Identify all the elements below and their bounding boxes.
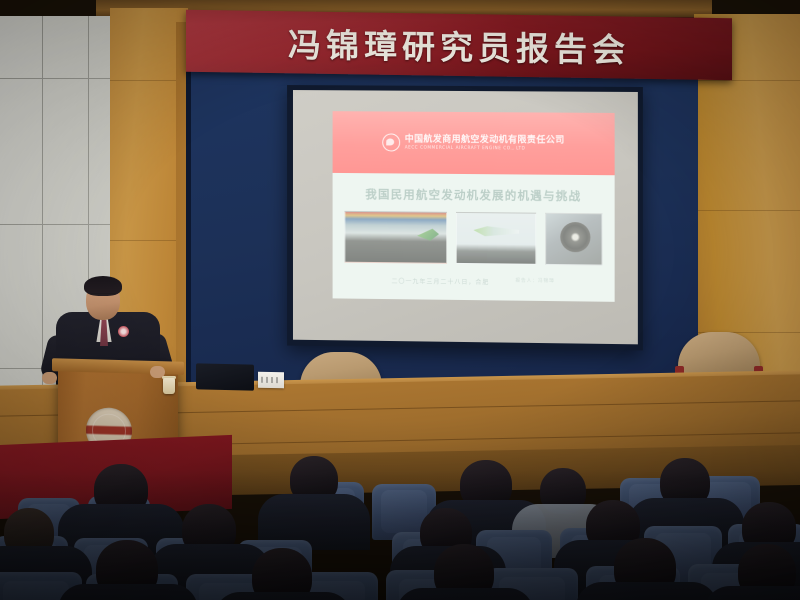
speaker-flower-badge bbox=[118, 326, 129, 337]
presentation-monitor bbox=[196, 363, 254, 390]
audience-shoulders bbox=[396, 588, 534, 600]
glasses-icon bbox=[90, 293, 116, 300]
slide-photo-row bbox=[333, 211, 615, 266]
slide-footer: 二〇一九年三月二十八日，合肥 报告人：冯锦璋 bbox=[333, 263, 615, 288]
auditorium-photo: 冯锦璋研究员报告会 中国航发商用航空发动机有限责任公司 AECC COMMERC… bbox=[0, 0, 800, 600]
aecc-circle-logo-icon bbox=[382, 133, 400, 151]
slide-footer-note: 报告人：冯锦璋 bbox=[515, 278, 554, 287]
audience-shoulders bbox=[58, 584, 198, 600]
speaker-left-hand bbox=[42, 372, 57, 384]
backdrop-edge bbox=[186, 62, 191, 392]
event-banner: 冯锦璋研究员报告会 bbox=[186, 10, 732, 81]
audience-area bbox=[0, 452, 800, 600]
audience-shoulders bbox=[214, 592, 352, 600]
company-name-en: AECC COMMERCIAL AIRCRAFT ENGINE CO., LTD bbox=[405, 145, 565, 151]
slide-header-band: 中国航发商用航空发动机有限责任公司 AECC COMMERCIAL AIRCRA… bbox=[333, 111, 615, 175]
audience-shoulders bbox=[704, 586, 800, 600]
screen-surface: 中国航发商用航空发动机有限责任公司 AECC COMMERCIAL AIRCRA… bbox=[293, 90, 638, 344]
water-cup bbox=[163, 378, 175, 394]
audience-shoulders bbox=[576, 582, 718, 600]
slide-title: 我国民用航空发动机发展的机遇与挑战 bbox=[333, 173, 615, 214]
slide-footer-date: 二〇一九年三月二十八日，合肥 bbox=[392, 276, 490, 286]
photo-engine-rollout-ceremony bbox=[344, 211, 447, 264]
photo-aircraft-in-flight bbox=[456, 212, 536, 265]
projection-screen: 中国航发商用航空发动机有限责任公司 AECC COMMERCIAL AIRCRA… bbox=[287, 85, 643, 350]
banner-title: 冯锦璋研究员报告会 bbox=[288, 18, 630, 71]
photo-turbofan-engine bbox=[546, 213, 603, 266]
presentation-slide: 中国航发商用航空发动机有限责任公司 AECC COMMERCIAL AIRCRA… bbox=[333, 111, 615, 302]
name-card bbox=[258, 372, 284, 389]
